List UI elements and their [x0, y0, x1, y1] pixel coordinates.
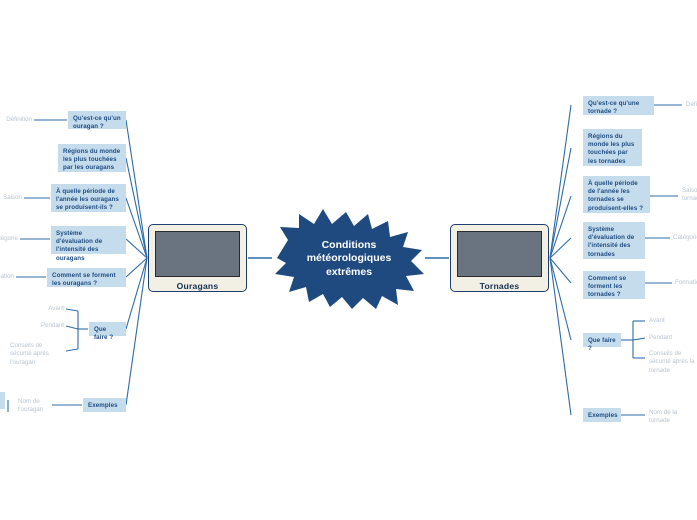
branch-card-ouragans[interactable]: Ouragans [148, 224, 247, 292]
leaf-tornades-pendant: Pendant [649, 334, 691, 342]
topic-ouragans-clipped-edge[interactable] [0, 392, 5, 409]
leaf-ouragans-definition: Définition [0, 116, 32, 124]
topic-ouragans-saison[interactable]: À quelle période de l'année les ouragans… [51, 184, 126, 212]
leaf-ouragans-conseils: Conseils de sécurité après l'ouragan [10, 342, 64, 367]
topic-tornades-exemples[interactable]: Exemples [583, 408, 621, 422]
topic-tornades-que-faire[interactable]: Que faire ? [583, 333, 621, 347]
leaf-ouragans-avant: Avant [28, 305, 64, 313]
center-title-line-3: extrêmes [326, 266, 372, 280]
topic-ouragans-regions[interactable]: Régions du monde les plus touchées par l… [58, 144, 126, 172]
leaf-ouragans-saison: Saison [0, 194, 22, 202]
leaf-ouragans-nom: Nom de l'ouragan [18, 398, 58, 415]
topic-tornades-regions[interactable]: Régions du monde les plus touchées par l… [583, 129, 642, 166]
leaf-tornades-avant: Avant [649, 317, 691, 325]
topic-tornades-formation[interactable]: Comment se forment les tornades ? [583, 271, 645, 299]
leaf-ouragans-categorie: Catégorie [0, 235, 18, 243]
leaf-tornades-conseils: Conseils de sécurité après la tornade [649, 350, 695, 375]
topic-ouragans-formation[interactable]: Comment se forment les ouragans ? [47, 268, 126, 287]
topic-tornades-categorie[interactable]: Système d'évaluation de l'intensité des … [583, 222, 645, 259]
center-title-line-2: météorologiques [307, 252, 392, 266]
leaf-tornades-formation: Formation [675, 279, 697, 287]
hurricane-satellite-photo [155, 231, 240, 277]
center-title-line-1: Conditions [322, 239, 377, 253]
topic-ouragans-definition[interactable]: Qu'est-ce qu'un ouragan ? [68, 111, 126, 129]
branch-card-tornades[interactable]: Tornades [450, 224, 549, 292]
center-node[interactable]: Conditions météorologiques extrêmes [268, 206, 430, 312]
center-title: Conditions météorologiques extrêmes [268, 206, 430, 312]
leaf-ouragans-formation: Formation [0, 273, 14, 281]
leaf-ouragans-pendant: Pendant [26, 322, 64, 330]
branch-card-tornades-label: Tornades [457, 281, 542, 291]
leaf-tornades-definition: Définition [686, 101, 697, 109]
topic-tornades-saison[interactable]: À quelle période de l'année les tornades… [583, 176, 650, 213]
topic-tornades-definition[interactable]: Qu'est-ce qu'une tornade ? [583, 96, 654, 115]
topic-ouragans-categorie[interactable]: Système d'évaluation de l'intensité des … [51, 226, 126, 254]
mindmap-canvas: Conditions météorologiques extrêmes Oura… [0, 0, 697, 520]
leaf-tornades-saison: Saison des tornades [682, 187, 697, 204]
topic-ouragans-que-faire[interactable]: Que faire ? [89, 322, 126, 336]
topic-ouragans-exemples[interactable]: Exemples [83, 398, 126, 412]
tornado-storm-photo [457, 231, 542, 277]
leaf-tornades-nom: Nom de la tornade [649, 409, 693, 426]
leaf-tornades-categorie: Catégorie [673, 234, 697, 242]
branch-card-ouragans-label: Ouragans [155, 281, 240, 291]
